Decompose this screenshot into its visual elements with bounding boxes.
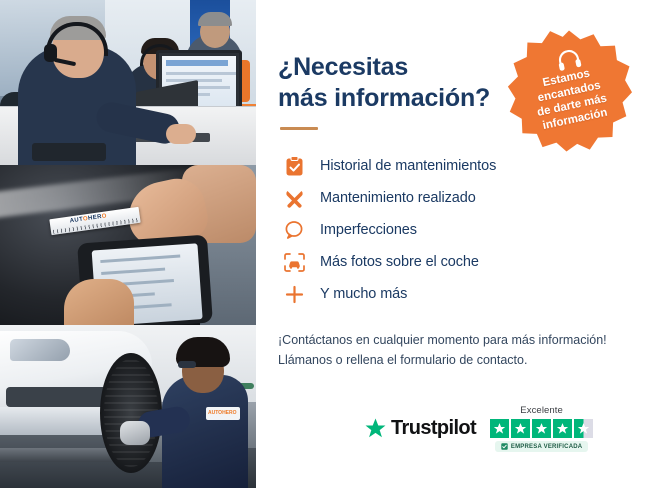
badge-text-block: Estamos encantados de darte más informac… [494,16,643,165]
person-background-hair [198,12,232,26]
person-hand [166,124,196,144]
feature-item-more-photos: Más fotos sobre el coche [278,246,650,278]
star-filled [553,419,572,438]
star-half [574,419,593,438]
car-photo-scan-icon [278,253,310,272]
tablet-row [100,254,180,263]
feature-item-imperfections: Imperfecciones [278,214,650,246]
verified-company-badge: EMPRESA VERIFICADA [495,441,588,452]
photo-car-inspection: AUTOHERO [0,165,256,325]
tools-icon [278,188,310,209]
photo-column: AUTOHERO [0,0,256,488]
contact-line-1: ¡Contáctanos en cualquier momento para m… [278,333,607,347]
screen-header-bar [166,60,228,66]
contact-line-2: Llámanos o rellena el formulario de cont… [278,353,527,367]
inspector-hand-holding-tablet [64,279,134,325]
feature-label: Historial de mantenimientos [310,158,496,174]
mechanic-glove [120,421,150,445]
star-filled [532,419,551,438]
page-title-line-1: ¿Necesitas [278,53,408,81]
screen-row [166,72,236,75]
clipboard-check-icon [278,156,310,177]
title-underline-divider [280,127,318,130]
desk-tablet [32,143,106,161]
contact-text: ¡Contáctanos en cualquier momento para m… [278,330,630,371]
feature-list: Historial de mantenimientos Mantenimient… [278,150,650,310]
trustpilot-rating-block: Excelente [490,405,593,452]
speech-bubble-icon [278,220,310,240]
verified-company-label: EMPRESA VERIFICADA [511,444,582,450]
trustpilot-rating-label: Excelente [520,405,563,416]
verified-check-icon [501,443,508,450]
photo-call-center [0,0,256,165]
trustpilot-wordmark: Trustpilot [391,417,476,440]
content-panel: ¿Necesitas más información? Estamos enca… [256,0,650,488]
car-headlight [10,339,70,361]
autohero-uniform-text: AUTOHERO [208,410,237,416]
feature-item-maintenance-done: Mantenimiento realizado [278,182,650,214]
photo-wheel-check: AUTOHERO [0,325,256,488]
trustpilot-star-icon [364,417,387,440]
feature-label: Más fotos sobre el coche [310,254,479,270]
promo-badge: Estamos encantados de darte más informac… [506,28,632,154]
trustpilot-star-rating [490,419,593,438]
mechanic-uniform-logo: AUTOHERO [206,407,240,420]
trustpilot-logo[interactable]: Trustpilot [364,417,476,440]
star-filled [511,419,530,438]
page-title-line-2: más información? [278,84,490,112]
feature-label: Imperfecciones [310,222,417,238]
feature-label: Mantenimiento realizado [310,190,476,206]
safety-glasses-icon [178,361,196,368]
feature-item-much-more: Y mucho más [278,278,650,310]
feature-label: Y mucho más [310,286,407,302]
car-lift-arm [0,448,124,462]
star-filled [490,419,509,438]
trustpilot-widget[interactable]: Trustpilot Excelente [364,405,593,452]
plus-icon [278,285,310,304]
page-title: ¿Necesitas más información? [278,52,518,113]
info-promo-card: AUTOHERO [0,0,650,488]
tablet-row [101,268,165,275]
feature-item-maintenance-history: Historial de mantenimientos [278,150,650,182]
